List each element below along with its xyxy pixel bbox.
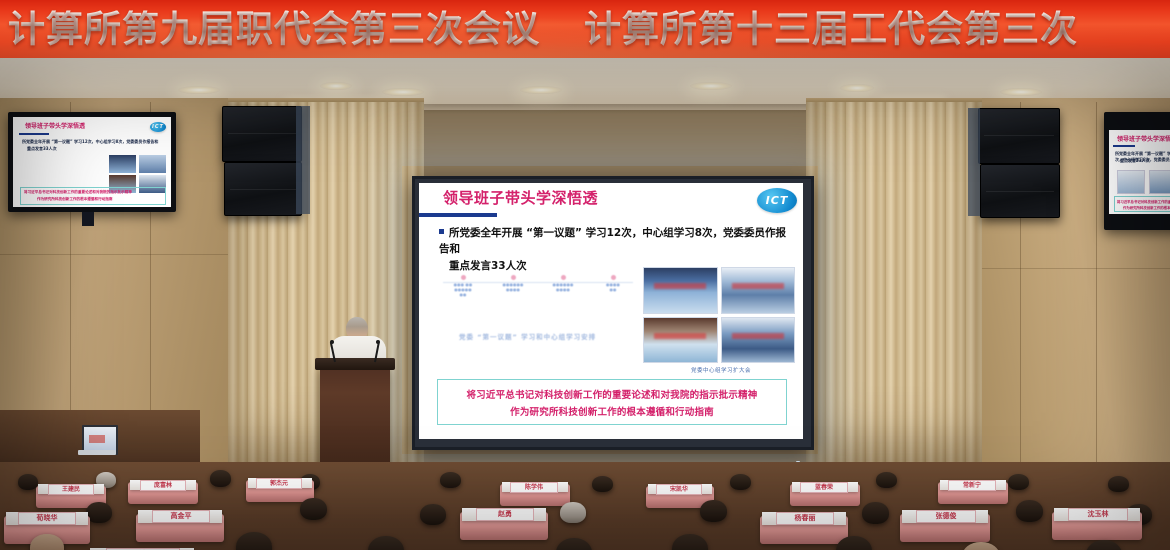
conference-hall-photo: 计算所第九届职代会第三次会议 计算所第十三届工代会第三次: [0, 0, 1170, 550]
diagram-node: ●●●●●●●●●●: [493, 275, 533, 292]
downlight-icon: [1000, 88, 1042, 96]
diagram-node: ●●● ●●●●●●●●●: [443, 275, 483, 297]
right-monitor-bullet-2: 重点发言33人次: [1120, 158, 1150, 164]
seat-name-text: 陈学伟: [525, 485, 543, 491]
right-monitor-highlight-box: 将习近平总书记对科技创新工作的重要论述和对我院的指示批示精神 作为研究所科技创新…: [1114, 196, 1170, 212]
microphone-head-icon: [330, 340, 334, 344]
left-monitor-stand: [82, 212, 94, 226]
left-monitor-title: 领导班子带头学深悟透: [25, 121, 85, 130]
seat-name-tag: 沈玉林: [1068, 508, 1128, 521]
seat-name-tag: 蓝春荣: [800, 482, 848, 493]
left-monitor-bullet-2: 重点发言33人次: [27, 146, 57, 152]
audience-head: [300, 498, 327, 520]
podium-top: [315, 358, 395, 370]
seat-name-text: 高金平: [171, 513, 192, 520]
audience-head: [1108, 476, 1129, 492]
seat-name-tag: 庞富林: [140, 480, 186, 491]
seat-name-tag: 陈学伟: [510, 482, 558, 493]
left-side-monitor: 领导班子带头学深悟透 ICT 所党委全年开展 “第一议题” 学习12次，中心组学…: [8, 112, 176, 212]
line-array-speaker-right: [980, 164, 1060, 218]
slide-highlight-line-1: 将习近平总书记对科技创新工作的重要论述和对我院的指示批示精神: [466, 387, 757, 401]
banner-text-left: 计算所第九届职代会第三次会议: [8, 11, 540, 48]
audience-head: [236, 532, 272, 550]
speaker-rigging: [296, 106, 310, 214]
seat-name-tag: 赵勇: [476, 508, 534, 521]
right-side-monitor: 领导班子带头学深悟透 所党委全年开展 “第一议题” 学习12次，中心组学习8次，…: [1104, 112, 1170, 230]
slide-bullet-line-1: 所党委全年开展 “第一议题” 学习12次，中心组学习8次，党委委员作报告和: [439, 227, 786, 255]
audience-head: [962, 542, 1000, 550]
seat-name-tag: 王建民: [48, 484, 94, 495]
downlight-icon: [382, 88, 424, 96]
diagram-node-dot: [561, 275, 566, 280]
audience-head: [1008, 474, 1029, 490]
diagram-node-dot: [511, 275, 516, 280]
audience-head: [700, 500, 727, 522]
seat-name-tag: 宋凯华: [656, 484, 702, 495]
downlight-icon: [520, 86, 562, 94]
speaker-rigging: [968, 108, 980, 216]
audience-head: [672, 534, 708, 550]
slide-photo: [721, 317, 796, 364]
slide-photo: [721, 267, 796, 314]
right-monitor-photo: [1149, 170, 1170, 194]
left-monitor-highlight-box: 将习近平总书记对科技创新工作的重要论述和对我院的指示批示精神 作为研究所科技创新…: [20, 187, 166, 205]
slide-highlight-line-2: 作为研究所科技创新工作的根本遵循和行动指南: [510, 404, 714, 418]
audience-head: [368, 536, 404, 550]
projection-screen-frame: 领导班子带头学深悟透 ICT 所党委全年开展 “第一议题” 学习12次，中心组学…: [412, 176, 814, 450]
wall-panel-seam: [1096, 102, 1097, 462]
seat-name-tag: 高金平: [152, 510, 210, 523]
audience-head: [730, 474, 751, 490]
event-banner: 计算所第九届职代会第三次会议 计算所第十三届工代会第三次: [0, 0, 1170, 58]
stage-curtain-right: [806, 102, 982, 482]
right-monitor-highlight-1: 将习近平总书记对科技创新工作的重要论述和对我院的指示批示精神: [1117, 199, 1170, 204]
audience-head: [440, 472, 461, 488]
right-monitor-highlight-2: 作为研究所科技创新工作的根本遵循和行动指南: [1123, 205, 1170, 210]
seat-name-text: 荀晓华: [37, 515, 58, 522]
seat-name-text: 赵勇: [498, 511, 512, 518]
seat-name-text: 郭杰元: [270, 481, 288, 487]
audience-head: [556, 538, 592, 550]
seat-name-text: 蓝春荣: [815, 485, 833, 491]
seat-name-tag: 常新宁: [948, 480, 996, 491]
diagram-node: ●●●●●●●●●●: [543, 275, 583, 292]
left-monitor-highlight-2: 作为研究所科技创新工作的根本遵循和行动指南: [37, 197, 112, 202]
seat-name-text: 沈玉林: [1088, 511, 1109, 518]
left-monitor-screen: 领导班子带头学深悟透 ICT 所党委全年开展 “第一议题” 学习12次，中心组学…: [13, 117, 171, 207]
ict-logo-icon: ICT: [757, 188, 797, 213]
audience-head: [420, 504, 446, 525]
laptop-base: [78, 450, 116, 455]
left-monitor-accent-bar: [19, 133, 49, 135]
slide-study-diagram: ●●● ●●●●●●●●● ●●●●●●●●●● ●●●●●●●●●●: [441, 275, 637, 353]
projection-screen: 领导班子带头学深悟透 ICT 所党委全年开展 “第一议题” 学习12次，中心组学…: [419, 183, 803, 439]
line-array-speaker-right: [978, 108, 1060, 164]
downlight-icon: [840, 84, 874, 92]
left-monitor-photo: [109, 155, 136, 173]
microphone-head-icon: [376, 340, 380, 344]
right-monitor-screen: 领导班子带头学深悟透 所党委全年开展 “第一议题” 学习12次，中心组学习8次，…: [1109, 130, 1170, 214]
audience-head: [862, 502, 889, 524]
audience-head: [18, 474, 38, 490]
audience-head: [1016, 500, 1043, 522]
line-array-speaker-left: [224, 162, 302, 216]
diagram-node: ●●●●●●: [593, 275, 633, 292]
downlight-icon: [320, 82, 352, 90]
ict-logo-icon: ICT: [150, 122, 166, 132]
left-monitor-bullet-1: 所党委全年开展 “第一议题” 学习12次，中心组学习8次，党委委员作报告和: [22, 139, 158, 145]
audience-head: [560, 502, 586, 523]
slide-photo-grid: [643, 267, 795, 363]
wall-panel-seam: [960, 268, 1170, 269]
audience-seating: 王建民 庞富林 郭杰元 陈学伟 宋凯华: [0, 462, 1170, 550]
audience-head: [210, 470, 231, 487]
slide-header: 领导班子带头学深悟透 ICT: [419, 183, 803, 217]
seat-name-text: 杨春丽: [795, 515, 816, 522]
seat-name-text: 宋凯华: [670, 487, 688, 493]
audience-head: [592, 476, 613, 492]
slide-title: 领导班子带头学深悟透: [443, 187, 598, 208]
slide-highlight-box: 将习近平总书记对科技创新工作的重要论述和对我院的指示批示精神 作为研究所科技创新…: [437, 379, 787, 425]
seat-name-tag: 郭杰元: [256, 478, 302, 489]
seat-name-text: 张德俊: [936, 513, 957, 520]
podium: [320, 365, 390, 477]
slide-accent-bar: [419, 213, 497, 217]
presentation-slide: 领导班子带头学深悟透 ICT 所党委全年开展 “第一议题” 学习12次，中心组学…: [419, 183, 803, 439]
slide-photo: [643, 317, 718, 364]
downlight-icon: [690, 82, 732, 90]
wall-panel-seam: [0, 254, 250, 255]
right-monitor-title: 领导班子带头学深悟透: [1117, 134, 1170, 143]
slide-photo: [643, 267, 718, 314]
audience-head: [876, 472, 897, 488]
right-monitor-accent-bar: [1113, 145, 1135, 147]
slide-photo-caption: 党委中心组学习扩大会: [651, 366, 791, 374]
line-array-speaker-left: [222, 106, 302, 162]
diagram-caption: 党委 “第一议题” 学习和中心组学习安排: [459, 331, 596, 341]
left-monitor-photo: [139, 155, 166, 173]
seat-name-text: 庞富林: [154, 483, 172, 489]
right-monitor-photo: [1117, 170, 1145, 194]
seat-name-tag: 张德俊: [916, 510, 976, 523]
seat-name-text: 常新宁: [963, 483, 981, 489]
seat-name-text: 王建民: [62, 487, 80, 493]
bullet-square-icon: [439, 229, 444, 234]
audience-head: [1086, 540, 1122, 550]
banner-text-right: 计算所第十三届工代会第三次: [584, 11, 1078, 48]
seat-name-tag: 杨春丽: [776, 512, 834, 525]
diagram-node-dot: [461, 275, 466, 280]
downlight-icon: [178, 86, 220, 94]
auditorium-room: 领导班子带头学深悟透 ICT 所党委全年开展 “第一议题” 学习12次，中心组学…: [0, 58, 1170, 550]
seat-name-tag: 荀晓华: [18, 512, 76, 525]
diagram-node-dot: [611, 275, 616, 280]
left-monitor-highlight-1: 将习近平总书记对科技创新工作的重要论述和对我院的指示批示精神: [24, 190, 132, 195]
